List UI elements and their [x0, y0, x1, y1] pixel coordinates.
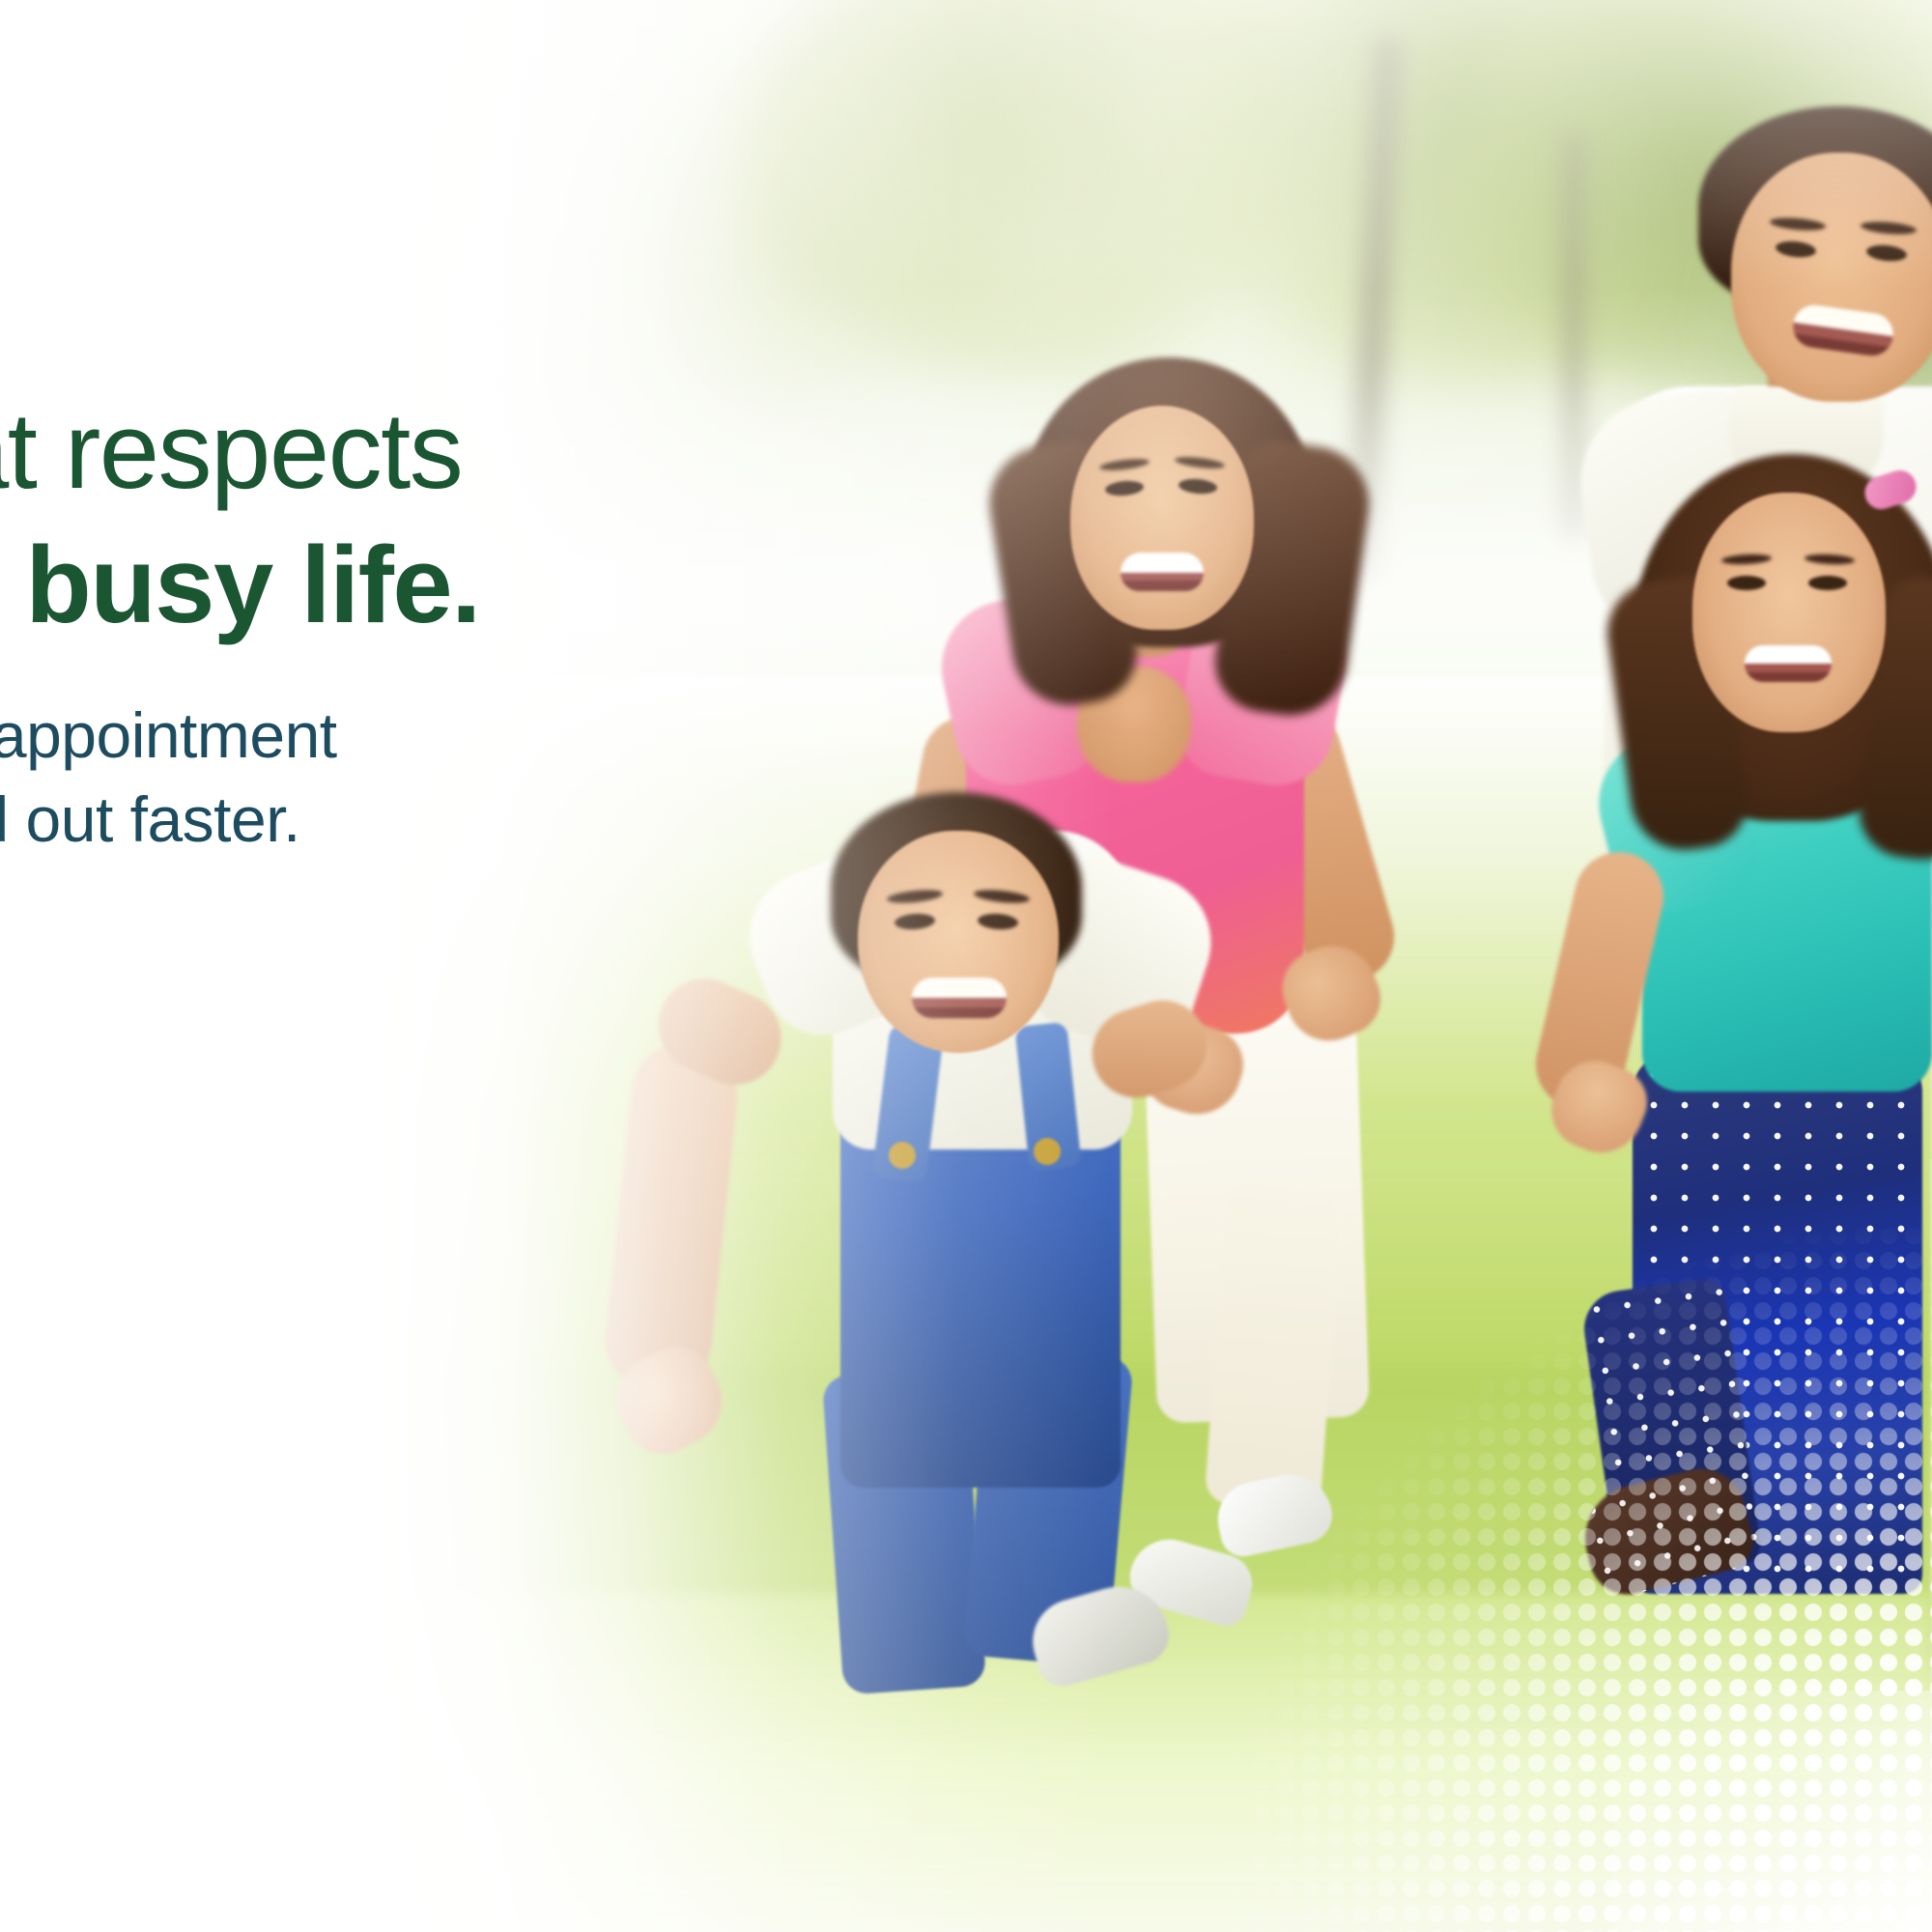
mother-mouth — [1121, 553, 1204, 591]
subtext-line-2: et in and out faster. — [0, 778, 782, 862]
page-title: b that respects your busy life. — [0, 384, 782, 653]
headline-line-1-rest: that respects — [0, 390, 462, 511]
boy-overall-button — [889, 1142, 916, 1169]
headline-line-1: b that respects — [0, 384, 782, 519]
subtext-line-1: dule an appointment — [0, 694, 782, 778]
mother-face — [1070, 406, 1254, 630]
headline-line-2: your busy life. — [0, 519, 782, 653]
boy-overall-button — [1034, 1138, 1061, 1165]
boy-face — [858, 831, 1059, 1053]
boy-mouth — [912, 978, 1007, 1018]
girl-eye — [1727, 576, 1766, 590]
father-face — [1731, 153, 1932, 402]
hero-banner: b that respects your busy life. dule an … — [0, 0, 1932, 1932]
girl-face — [1692, 493, 1886, 732]
mother-leg — [1205, 1184, 1343, 1511]
hero-subtext: dule an appointment et in and out faster… — [0, 694, 782, 862]
hero-copy: b that respects your busy life. dule an … — [0, 0, 773, 1932]
girl-mouth — [1745, 645, 1832, 682]
girl-eye — [1808, 576, 1847, 590]
